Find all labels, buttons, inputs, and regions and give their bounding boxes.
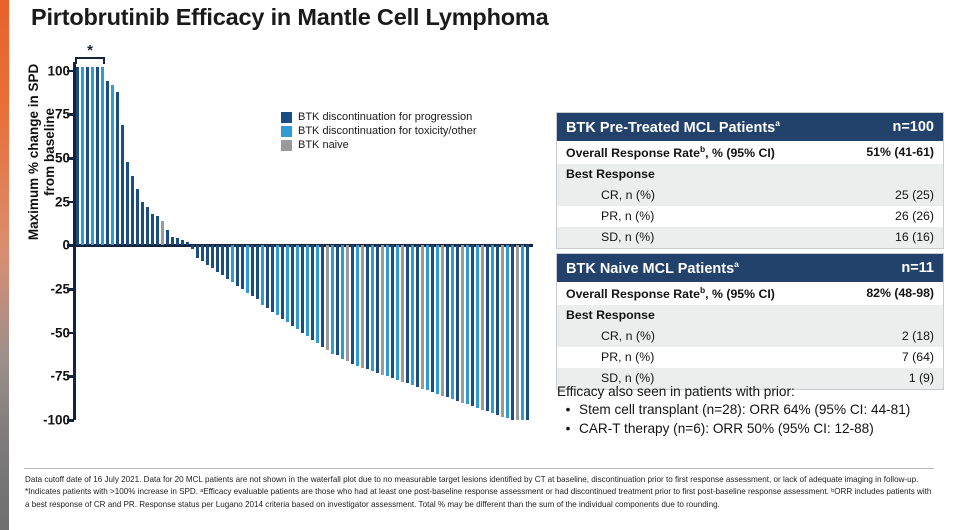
table-cell-value xyxy=(836,305,944,326)
chart-bar xyxy=(336,245,340,355)
chart-bar xyxy=(386,245,390,376)
table-cell-value: 16 (16) xyxy=(836,227,944,249)
footnote-divider xyxy=(24,468,934,469)
chart-bar xyxy=(281,245,285,318)
y-tick-mark xyxy=(67,157,74,160)
table-cell-value: 2 (18) xyxy=(836,326,944,347)
chart-bar xyxy=(466,245,470,404)
y-tick-mark xyxy=(67,201,74,204)
table-cell-label: CR, n (%) xyxy=(557,185,836,206)
table-row: SD, n (%)16 (16) xyxy=(557,227,944,249)
chart-bar xyxy=(261,245,265,304)
response-tables: BTK Pre-Treated MCL Patientsan=100Overal… xyxy=(556,112,944,394)
footnote-marker: a xyxy=(734,259,739,269)
table-cell-label: Overall Response Rateb, % (95% CI) xyxy=(557,141,836,164)
chart-bar xyxy=(301,245,305,332)
table-cell-label: SD, n (%) xyxy=(557,227,836,249)
chart-bar xyxy=(426,245,430,390)
chart-bar xyxy=(266,245,270,308)
chart-bar xyxy=(431,245,435,392)
chart-legend: BTK discontinuation for progressionBTK d… xyxy=(281,111,477,153)
plot-area: * xyxy=(73,40,545,445)
table-cell-value xyxy=(836,164,944,185)
chart-bar xyxy=(471,245,475,406)
chart-bar xyxy=(306,245,310,336)
chart-bar xyxy=(496,245,500,414)
chart-bar xyxy=(161,221,165,245)
legend-swatch-icon xyxy=(281,112,292,123)
chart-bar xyxy=(316,245,320,343)
table-row: Overall Response Rateb, % (95% CI)51% (4… xyxy=(557,141,944,164)
chart-bar xyxy=(291,245,295,325)
chart-bar xyxy=(321,245,325,346)
y-tick-mark xyxy=(67,288,74,291)
chart-bar xyxy=(151,214,155,245)
footnote-marker: b xyxy=(700,285,705,295)
y-tick-mark xyxy=(67,332,74,335)
legend-item-toxicity_other: BTK discontinuation for toxicity/other xyxy=(281,125,477,138)
chart-bar xyxy=(96,67,100,245)
chart-bar xyxy=(216,245,220,271)
waterfall-chart: Maximum % change in SPD from baseline 10… xyxy=(0,40,555,445)
legend-label: BTK discontinuation for progression xyxy=(298,111,472,123)
chart-bar xyxy=(461,245,465,402)
y-tick-label: -100 xyxy=(43,413,70,428)
legend-label: BTK discontinuation for toxicity/other xyxy=(298,125,477,137)
y-tick-mark xyxy=(67,244,74,247)
table-row: PR, n (%)26 (26) xyxy=(557,206,944,227)
chart-bar xyxy=(256,245,260,299)
chart-bar xyxy=(276,245,280,315)
efficacy-bullet: •Stem cell transplant (n=28): ORR 64% (9… xyxy=(557,401,952,420)
asterisk-annotation: * xyxy=(87,43,93,58)
chart-bar xyxy=(351,245,355,364)
y-tick-mark xyxy=(67,419,74,422)
chart-bar xyxy=(221,245,225,275)
efficacy-bullet-list: •Stem cell transplant (n=28): ORR 64% (9… xyxy=(557,401,952,439)
chart-bar xyxy=(176,238,180,245)
bullet-marker-icon: • xyxy=(557,420,579,439)
table-row: PR, n (%)7 (64) xyxy=(557,347,944,368)
table-cell-label: Overall Response Rateb, % (95% CI) xyxy=(557,282,836,305)
table-cell-value: 51% (41-61) xyxy=(836,141,944,164)
chart-bar xyxy=(311,245,315,339)
chart-bar xyxy=(371,245,375,371)
chart-bar xyxy=(366,245,370,369)
chart-bar xyxy=(391,245,395,378)
chart-bar xyxy=(486,245,490,411)
table-cell-value: 25 (25) xyxy=(836,185,944,206)
chart-bar xyxy=(171,237,175,246)
chart-bar xyxy=(446,245,450,397)
table-header-label: BTK Pre-Treated MCL Patientsa xyxy=(557,113,836,141)
chart-bar xyxy=(106,81,110,245)
table-row: Best Response xyxy=(557,164,944,185)
chart-bar xyxy=(81,67,85,245)
chart-bar xyxy=(126,162,130,246)
chart-bar xyxy=(481,245,485,409)
table-header-row: BTK Naive MCL Patientsan=11 xyxy=(557,253,944,281)
footnote-marker: b xyxy=(700,144,705,154)
table-cell-label: Best Response xyxy=(557,305,836,326)
chart-bar xyxy=(76,67,80,245)
table-cell-label: Best Response xyxy=(557,164,836,185)
chart-bar xyxy=(506,245,510,418)
chart-bar xyxy=(331,245,335,353)
chart-bar xyxy=(416,245,420,386)
table-cell-label: PR, n (%) xyxy=(557,347,836,368)
chart-bar xyxy=(251,245,255,296)
chart-bar xyxy=(401,245,405,381)
chart-bar xyxy=(376,245,380,372)
chart-bar xyxy=(91,67,95,245)
chart-bar xyxy=(191,245,195,248)
chart-bar xyxy=(196,245,200,257)
table-row: Best Response xyxy=(557,305,944,326)
chart-bar xyxy=(411,245,415,385)
legend-swatch-icon xyxy=(281,140,292,151)
chart-bar xyxy=(511,245,515,420)
y-tick-mark xyxy=(67,70,74,73)
chart-bar xyxy=(211,245,215,268)
chart-bar xyxy=(121,125,125,245)
significance-bracket: * xyxy=(75,49,105,67)
chart-bar xyxy=(206,245,210,264)
table-row: CR, n (%)25 (25) xyxy=(557,185,944,206)
table-header-label: BTK Naive MCL Patientsa xyxy=(557,253,836,281)
chart-bar xyxy=(141,202,145,246)
bullet-marker-icon: • xyxy=(557,401,579,420)
response-table: BTK Naive MCL Patientsan=11Overall Respo… xyxy=(556,253,944,390)
chart-bar xyxy=(156,216,160,246)
chart-bar xyxy=(131,176,135,246)
chart-bar xyxy=(381,245,385,374)
chart-bar xyxy=(326,245,330,350)
chart-bar xyxy=(421,245,425,388)
chart-bar xyxy=(201,245,205,261)
efficacy-note-lead: Efficacy also seen in patients with prio… xyxy=(557,384,952,399)
chart-bar xyxy=(441,245,445,395)
chart-bar xyxy=(146,207,150,245)
chart-bar xyxy=(491,245,495,413)
y-tick-mark xyxy=(67,113,74,116)
efficacy-note: Efficacy also seen in patients with prio… xyxy=(557,384,952,439)
table-header-row: BTK Pre-Treated MCL Patientsan=100 xyxy=(557,113,944,141)
chart-bar xyxy=(456,245,460,400)
chart-bar xyxy=(406,245,410,383)
chart-bar xyxy=(516,245,520,420)
legend-swatch-icon xyxy=(281,126,292,137)
chart-bar xyxy=(111,85,115,246)
bracket-tick-right xyxy=(103,57,105,64)
table-cell-value: 82% (48-98) xyxy=(836,282,944,305)
chart-bar xyxy=(186,242,190,245)
legend-label: BTK naive xyxy=(298,139,349,151)
chart-bar xyxy=(476,245,480,407)
chart-bar xyxy=(436,245,440,393)
bar-series xyxy=(75,40,545,445)
chart-bar xyxy=(296,245,300,329)
chart-bar xyxy=(501,245,505,416)
legend-item-progression: BTK discontinuation for progression xyxy=(281,111,477,124)
chart-bar xyxy=(521,245,525,420)
chart-bar xyxy=(231,245,235,282)
chart-bar xyxy=(236,245,240,285)
y-axis-tick-labels: 1007550250-25-50-75-100 xyxy=(22,40,70,445)
footnote-marker: a xyxy=(775,118,780,128)
chart-bar xyxy=(356,245,360,365)
chart-bar xyxy=(181,240,185,245)
table-cell-value: 26 (26) xyxy=(836,206,944,227)
chart-bar xyxy=(246,245,250,292)
chart-bar xyxy=(526,245,530,420)
response-table: BTK Pre-Treated MCL Patientsan=100Overal… xyxy=(556,112,944,249)
chart-bar xyxy=(396,245,400,379)
table-cell-label: PR, n (%) xyxy=(557,206,836,227)
chart-bar xyxy=(136,189,140,245)
chart-bar xyxy=(451,245,455,399)
efficacy-bullet-text: Stem cell transplant (n=28): ORR 64% (95… xyxy=(579,401,910,420)
table-row: Overall Response Rateb, % (95% CI)82% (4… xyxy=(557,282,944,305)
footnote-text: Data cutoff date of 16 July 2021. Data f… xyxy=(25,474,937,511)
chart-bar xyxy=(361,245,365,367)
table-cell-value: 7 (64) xyxy=(836,347,944,368)
page-title: Pirtobrutinib Efficacy in Mantle Cell Ly… xyxy=(31,4,548,31)
chart-bar xyxy=(226,245,230,278)
chart-bar xyxy=(116,92,120,246)
chart-bar xyxy=(286,245,290,322)
chart-bar xyxy=(166,230,170,246)
chart-bar xyxy=(101,67,105,245)
chart-bar xyxy=(86,67,90,245)
table-row: CR, n (%)2 (18) xyxy=(557,326,944,347)
chart-bar xyxy=(341,245,345,359)
table-header-n: n=100 xyxy=(836,113,944,141)
chart-bar xyxy=(241,245,245,289)
chart-bar xyxy=(346,245,350,360)
y-tick-mark xyxy=(67,375,74,378)
efficacy-bullet-text: CAR-T therapy (n=6): ORR 50% (95% CI: 12… xyxy=(579,420,874,439)
legend-item-naive: BTK naive xyxy=(281,139,477,152)
efficacy-bullet: •CAR-T therapy (n=6): ORR 50% (95% CI: 1… xyxy=(557,420,952,439)
table-header-n: n=11 xyxy=(836,253,944,281)
table-cell-label: CR, n (%) xyxy=(557,326,836,347)
chart-bar xyxy=(271,245,275,311)
